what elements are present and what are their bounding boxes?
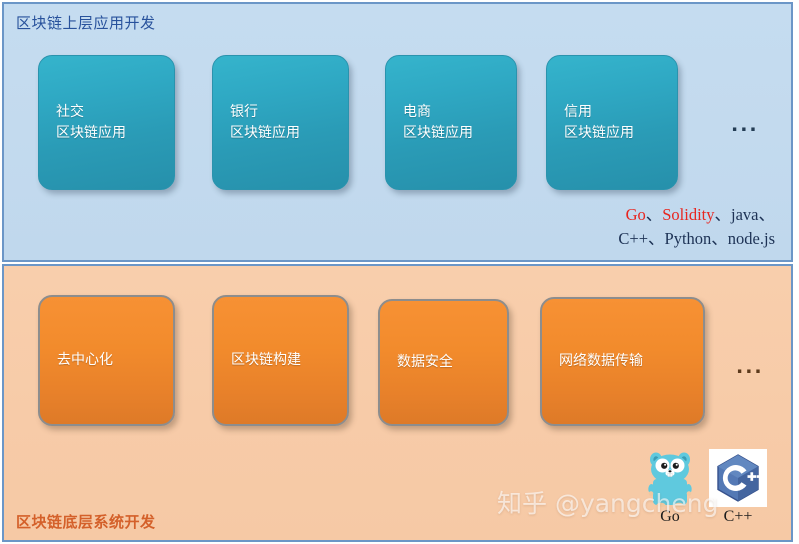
language-go: Go (626, 205, 646, 224)
node-network-data-transmission[interactable]: 网络数据传输 (540, 297, 705, 426)
layer-title-application: 区块链上层应用开发 (16, 12, 156, 33)
go-logo-label: Go (638, 508, 702, 526)
go-gopher-icon (641, 449, 699, 507)
language-list-line-2: C++、Python、node.js (618, 227, 775, 251)
cpp-icon (709, 449, 767, 507)
ellipsis-underlying-layer: ... (736, 358, 764, 377)
node-data-security[interactable]: 数据安全 (378, 299, 509, 426)
layer-title-underlying: 区块链底层系统开发 (16, 511, 156, 532)
language-java: 、java、 (715, 205, 775, 224)
node-credit-blockchain-app[interactable]: 信用 区块链应用 (546, 55, 678, 190)
node-social-blockchain-app[interactable]: 社交 区块链应用 (38, 55, 175, 190)
node-ecommerce-blockchain-app[interactable]: 电商 区块链应用 (385, 55, 517, 190)
cpp-logo-group: C++ (706, 449, 770, 526)
language-solidity: Solidity (662, 205, 714, 224)
node-bank-blockchain-app[interactable]: 银行 区块链应用 (212, 55, 349, 190)
go-logo-group: Go (638, 449, 702, 526)
language-list-line-1: Go、Solidity、java、 (618, 203, 775, 227)
diagram-canvas: 区块链上层应用开发 社交 区块链应用 银行 区块链应用 电商 区块链应用 信用 … (0, 0, 799, 544)
cpp-logo-label: C++ (706, 508, 770, 526)
node-decentralization[interactable]: 去中心化 (38, 295, 175, 426)
language-sep-1: 、 (646, 205, 663, 224)
language-list: Go、Solidity、java、 C++、Python、node.js (618, 203, 775, 251)
ellipsis-application-layer: ... (731, 116, 759, 135)
node-blockchain-construction[interactable]: 区块链构建 (212, 295, 349, 426)
